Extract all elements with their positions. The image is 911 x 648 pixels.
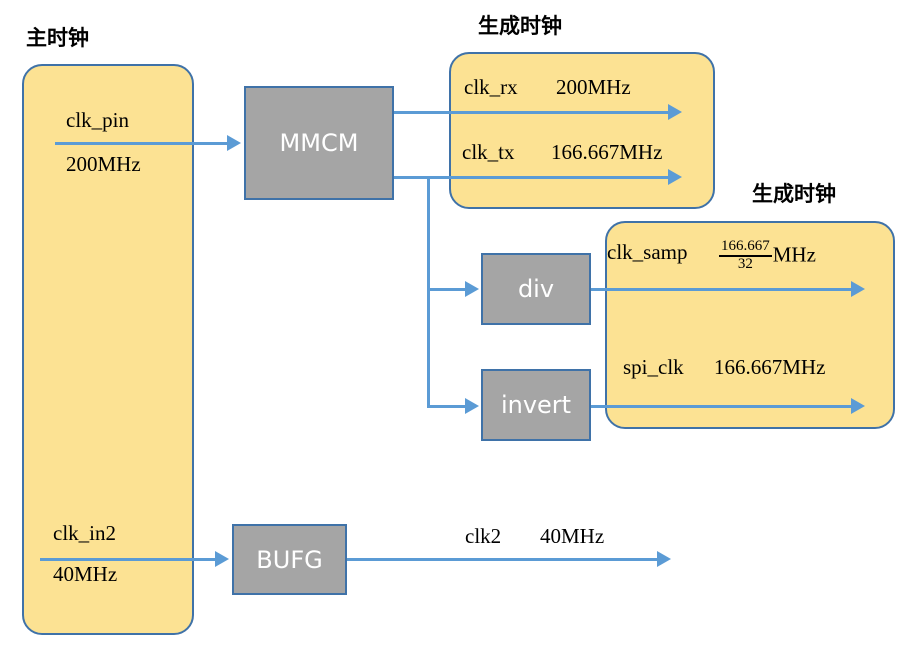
arrowhead-invert-input xyxy=(465,398,479,414)
signal-label-clk-rx: clk_rx xyxy=(464,75,518,100)
primitive-mmcm[interactable]: MMCM xyxy=(244,86,394,200)
primitive-div[interactable]: div xyxy=(481,253,591,325)
wire-branch-to-invert xyxy=(427,405,467,408)
master-clock-group-label: 主时钟 xyxy=(26,22,89,52)
wire-branch-trunk xyxy=(427,176,430,408)
clock-architecture-diagram: 主时钟 生成时钟 生成时钟 MMCM div invert BUFG xyxy=(0,0,911,648)
signal-label-spi-clk: spi_clk xyxy=(623,355,684,380)
wire-branch-to-div xyxy=(427,288,467,291)
fraction-denominator: 32 xyxy=(719,257,772,273)
signal-freq-clk-samp: 166.667 32 MHz xyxy=(718,240,816,274)
arrowhead-div-input xyxy=(465,281,479,297)
generated-clock-group-label-1: 生成时钟 xyxy=(478,10,562,40)
primitive-div-label: div xyxy=(518,277,554,301)
arrowhead-clk-rx xyxy=(668,104,682,120)
primitive-bufg[interactable]: BUFG xyxy=(232,524,347,595)
signal-label-clk-in2: clk_in2 xyxy=(53,521,116,546)
signal-label-clk2: clk2 xyxy=(465,524,501,549)
wire-clk-in2 xyxy=(40,558,215,561)
wire-clk-samp xyxy=(591,288,853,291)
signal-freq-clk-tx: 166.667MHz xyxy=(551,140,662,165)
wire-clk-rx xyxy=(394,111,670,114)
signal-freq-clk2: 40MHz xyxy=(540,524,604,549)
signal-label-clk-tx: clk_tx xyxy=(462,140,515,165)
wire-spi-clk xyxy=(591,405,853,408)
signal-freq-clk-rx: 200MHz xyxy=(556,75,631,100)
primitive-invert[interactable]: invert xyxy=(481,369,591,441)
master-clock-group-box xyxy=(22,64,194,635)
signal-label-clk-samp: clk_samp xyxy=(607,240,687,265)
arrowhead-clk-in2 xyxy=(215,551,229,567)
fraction-unit: MHz xyxy=(773,243,816,267)
wire-clk-tx xyxy=(394,176,670,179)
generated-clock-group-label-2: 生成时钟 xyxy=(752,178,836,208)
arrowhead-clk-tx xyxy=(668,169,682,185)
primitive-invert-label: invert xyxy=(501,393,571,417)
arrowhead-spi-clk xyxy=(851,398,865,414)
primitive-mmcm-label: MMCM xyxy=(280,131,359,155)
signal-freq-spi-clk: 166.667MHz xyxy=(714,355,825,380)
primitive-bufg-label: BUFG xyxy=(256,548,322,572)
arrowhead-clk-samp xyxy=(851,281,865,297)
fraction-clk-samp: 166.667 32 xyxy=(719,239,772,273)
arrowhead-clk2 xyxy=(657,551,671,567)
signal-freq-clk-in2: 40MHz xyxy=(53,562,117,587)
signal-freq-clk-pin: 200MHz xyxy=(66,152,141,177)
fraction-numerator: 166.667 xyxy=(719,239,772,255)
wire-clk-pin xyxy=(55,142,227,145)
wire-clk2 xyxy=(347,558,659,561)
signal-label-clk-pin: clk_pin xyxy=(66,108,129,133)
arrowhead-clk-pin xyxy=(227,135,241,151)
